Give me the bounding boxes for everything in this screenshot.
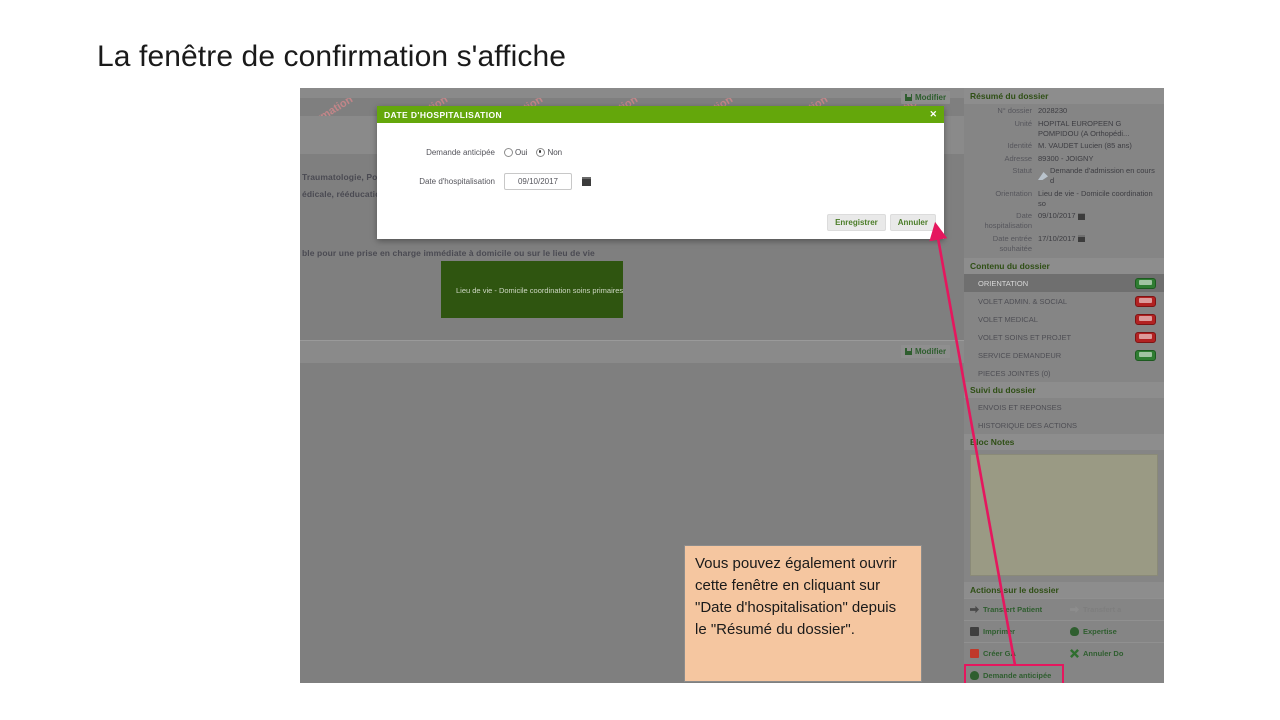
save-disk-icon	[905, 94, 912, 101]
radio-option-non[interactable]: Non	[536, 148, 562, 157]
modifier-button-bottom[interactable]: Modifier	[901, 345, 950, 358]
item-label: SERVICE DEMANDEUR	[978, 351, 1061, 360]
row-value: M. VAUDET Lucien (85 ans)	[1038, 141, 1160, 151]
row-key: Statut	[968, 166, 1038, 186]
person-icon	[1070, 627, 1079, 636]
sidebar-item-envois-reponses[interactable]: ENVOIS ET REPONSES	[964, 398, 1164, 416]
suivi-heading: Suivi du dossier	[964, 382, 1164, 398]
radio-option-oui[interactable]: Oui	[504, 148, 527, 157]
calendar-icon-small-2	[1078, 235, 1085, 242]
action-label: Transfert Patient	[983, 605, 1042, 614]
sidebar-item-volet-medical[interactable]: VOLET MEDICAL	[964, 310, 1164, 328]
modifier-label-2: Modifier	[915, 347, 946, 356]
radio-non-label: Non	[547, 148, 562, 157]
sidebar-item-historique-actions[interactable]: HISTORIQUE DES ACTIONS	[964, 416, 1164, 434]
modal-title: DATE D'HOSPITALISATION	[384, 110, 502, 120]
callout-note: Vous pouvez également ouvrir cette fenêt…	[684, 545, 922, 682]
table-row: Identité M. VAUDET Lucien (85 ans)	[968, 141, 1160, 151]
modal-header: DATE D'HOSPITALISATION ✕	[377, 106, 944, 123]
resume-table: N° dossier 2028230 Unité HOPITAL EUROPEE…	[964, 104, 1164, 258]
row-key: N° dossier	[968, 106, 1038, 116]
orientation-result-box[interactable]: Lieu de vie - Domicile coordination soin…	[441, 261, 623, 318]
modal-actions: Enregistrer Annuler	[827, 214, 936, 231]
contenu-heading: Contenu du dossier	[964, 258, 1164, 274]
action-label: Imprimer	[983, 627, 1015, 636]
sidebar-item-orientation[interactable]: ORIENTATION	[964, 274, 1164, 292]
table-row: Orientation Lieu de vie - Domicile coord…	[968, 189, 1160, 209]
ga-icon	[970, 649, 979, 658]
modal-body: Demande anticipée Oui Non Date d'hospita…	[377, 123, 944, 239]
cross-icon	[1070, 649, 1079, 658]
person-icon-2	[970, 671, 979, 680]
save-button[interactable]: Enregistrer	[827, 214, 886, 231]
statut-value: Demande d'admission en cours d	[1050, 166, 1160, 186]
row-value: 17/10/2017	[1038, 234, 1160, 254]
bloc-notes-heading: Bloc Notes	[964, 434, 1164, 450]
action-label: Demande anticipée	[983, 671, 1051, 680]
action-expertise[interactable]: Expertise	[1064, 620, 1164, 642]
action-label: Transfert a	[1083, 605, 1121, 614]
cancel-button[interactable]: Annuler	[890, 214, 936, 231]
action-imprimer[interactable]: Imprimer	[964, 620, 1064, 642]
radio-oui-icon[interactable]	[504, 148, 513, 157]
item-label: VOLET SOINS ET PROJET	[978, 333, 1071, 342]
close-icon[interactable]: ✕	[929, 110, 937, 119]
row-value: 2028230	[1038, 106, 1160, 116]
date-hospitalisation-modal: DATE D'HOSPITALISATION ✕ Demande anticip…	[377, 106, 944, 239]
sidebar-item-service-demandeur[interactable]: SERVICE DEMANDEUR	[964, 346, 1164, 364]
actions-heading: Actions sur le dossier	[964, 582, 1164, 598]
row-key: Identité	[968, 141, 1038, 151]
right-sidebar: Résumé du dossier N° dossier 2028230 Uni…	[964, 88, 1164, 683]
table-row: N° dossier 2028230	[968, 106, 1160, 116]
action-label: Créer GA	[983, 649, 1016, 658]
date-hospitalisation-label: Date d'hospitalisation	[377, 177, 504, 186]
row-key: Date hospitalisation	[968, 211, 1038, 231]
status-badge-red	[1135, 314, 1156, 325]
item-label: HISTORIQUE DES ACTIONS	[978, 421, 1077, 430]
date-entree-value: 17/10/2017	[1038, 234, 1076, 244]
row-key: Adresse	[968, 154, 1038, 164]
row-key: Unité	[968, 119, 1038, 139]
row-value: Lieu de vie - Domicile coordination so	[1038, 189, 1160, 209]
table-row: Unité HOPITAL EUROPEEN G POMPIDOU (A Ort…	[968, 119, 1160, 139]
action-transfert-autre: Transfert a	[1064, 598, 1164, 620]
resume-heading: Résumé du dossier	[964, 88, 1164, 104]
arrow-icon-disabled	[1070, 605, 1079, 614]
row-value: 89300 - JOIGNY	[1038, 154, 1160, 164]
action-demande-anticipee[interactable]: Demande anticipée	[964, 664, 1064, 683]
calendar-icon[interactable]	[582, 177, 591, 186]
status-badge-green	[1135, 350, 1156, 361]
status-badge-red	[1135, 296, 1156, 307]
item-label: PIECES JOINTES (0)	[978, 369, 1051, 378]
contenu-list: ORIENTATION VOLET ADMIN. & SOCIAL VOLET …	[964, 274, 1164, 382]
modifier-label: Modifier	[915, 93, 946, 102]
action-label: Annuler Do	[1083, 649, 1123, 658]
statut-icon	[1038, 172, 1048, 180]
sidebar-item-volet-soins-projet[interactable]: VOLET SOINS ET PROJET	[964, 328, 1164, 346]
demande-anticipee-radio-group[interactable]: Oui Non	[504, 148, 562, 157]
bg-text-2: ble pour une prise en charge immédiate à…	[302, 248, 595, 258]
printer-icon	[970, 627, 979, 636]
row-value[interactable]: 09/10/2017	[1038, 211, 1160, 231]
orientation-result-label: Lieu de vie - Domicile coordination soin…	[456, 286, 623, 295]
save-disk-icon-2	[905, 348, 912, 355]
status-badge-red	[1135, 332, 1156, 343]
item-label: VOLET MEDICAL	[978, 315, 1038, 324]
sidebar-item-pieces-jointes[interactable]: PIECES JOINTES (0)	[964, 364, 1164, 382]
calendar-icon-small[interactable]	[1078, 213, 1085, 220]
date-hospitalisation-input[interactable]: 09/10/2017	[504, 173, 572, 190]
status-badge-green	[1135, 278, 1156, 289]
radio-non-icon[interactable]	[536, 148, 545, 157]
action-label: Expertise	[1083, 627, 1117, 636]
table-row: Date entrée souhaitée 17/10/2017	[968, 234, 1160, 254]
bloc-notes-textarea[interactable]	[970, 454, 1158, 576]
action-transfert-patient[interactable]: Transfert Patient	[964, 598, 1064, 620]
row-value: HOPITAL EUROPEEN G POMPIDOU (A Orthopédi…	[1038, 119, 1160, 139]
page-title: La fenêtre de confirmation s'affiche	[97, 38, 566, 76]
table-row: Adresse 89300 - JOIGNY	[968, 154, 1160, 164]
table-row: Statut Demande d'admission en cours d	[968, 166, 1160, 186]
row-key: Date entrée souhaitée	[968, 234, 1038, 254]
row-key: Orientation	[968, 189, 1038, 209]
row-value: Demande d'admission en cours d	[1038, 166, 1160, 186]
table-row-date-hospitalisation[interactable]: Date hospitalisation 09/10/2017	[968, 211, 1160, 231]
item-label: VOLET ADMIN. & SOCIAL	[978, 297, 1067, 306]
arrow-icon	[970, 605, 979, 614]
actions-grid: Transfert Patient Transfert a Imprimer E…	[964, 598, 1164, 683]
item-label: ORIENTATION	[978, 279, 1028, 288]
action-annuler-dossier[interactable]: Annuler Do	[1064, 642, 1164, 664]
date-hospitalisation-value[interactable]: 09/10/2017	[1038, 211, 1076, 221]
item-label: ENVOIS ET REPONSES	[978, 403, 1062, 412]
demande-anticipee-label: Demande anticipée	[377, 148, 504, 157]
modifier-button-top[interactable]: Modifier	[901, 91, 950, 104]
sidebar-item-volet-admin-social[interactable]: VOLET ADMIN. & SOCIAL	[964, 292, 1164, 310]
radio-oui-label: Oui	[515, 148, 527, 157]
action-creer-ga[interactable]: Créer GA	[964, 642, 1064, 664]
